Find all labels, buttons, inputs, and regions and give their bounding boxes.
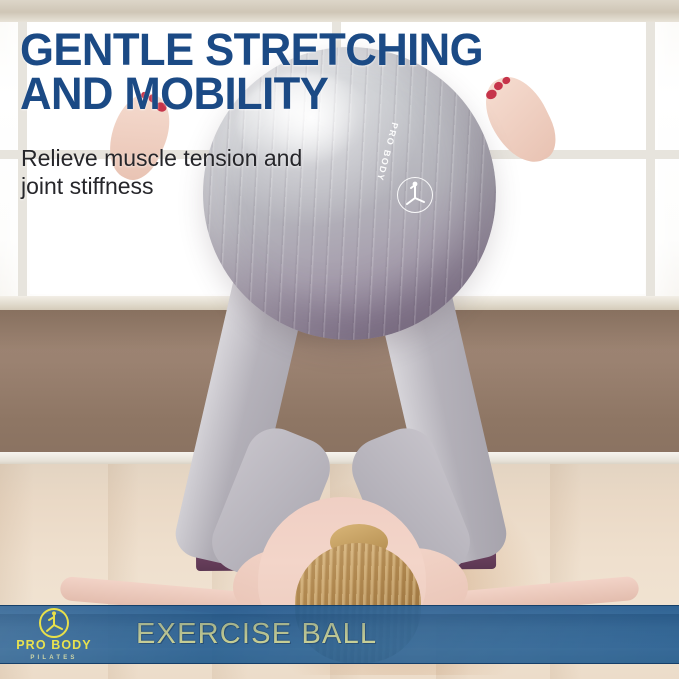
brand-name: PRO BODY: [16, 639, 91, 652]
brand-tagline: PILATES: [30, 655, 77, 661]
subtitle: Relieve muscle tension and joint stiffne…: [21, 144, 381, 200]
bottom-banner: PRO BODY PILATES EXERCISE BALL: [0, 605, 679, 664]
page-title: GENTLE STRETCHING AND MOBILITY: [20, 28, 524, 116]
product-poster: PRO BODY GENTLE STRETCHING AND MOBILITY …: [0, 0, 679, 679]
product-name: EXERCISE BALL: [136, 618, 377, 651]
pro-body-pilates-mark-icon: [39, 608, 69, 638]
pro-body-pilates-mark-icon: [397, 177, 433, 213]
brand-logo: PRO BODY PILATES: [0, 606, 108, 663]
